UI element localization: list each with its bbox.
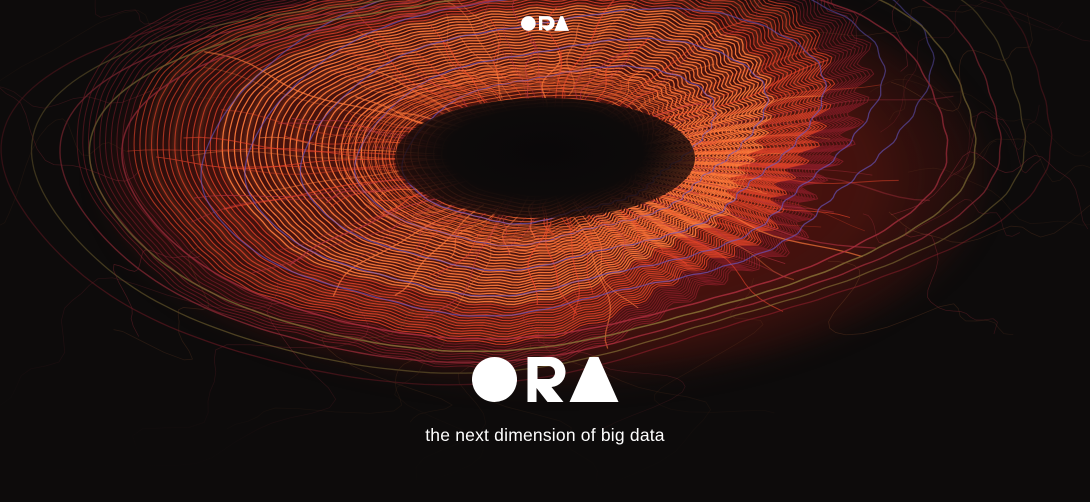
header-logo[interactable] [521,15,569,32]
ora-landing-page: the next dimension of big data [0,0,1090,502]
hero-tagline: the next dimension of big data [0,425,1090,446]
ora-logo-small-icon [521,15,569,32]
hero-logo [472,357,619,402]
ora-logo-large-icon [472,357,619,402]
